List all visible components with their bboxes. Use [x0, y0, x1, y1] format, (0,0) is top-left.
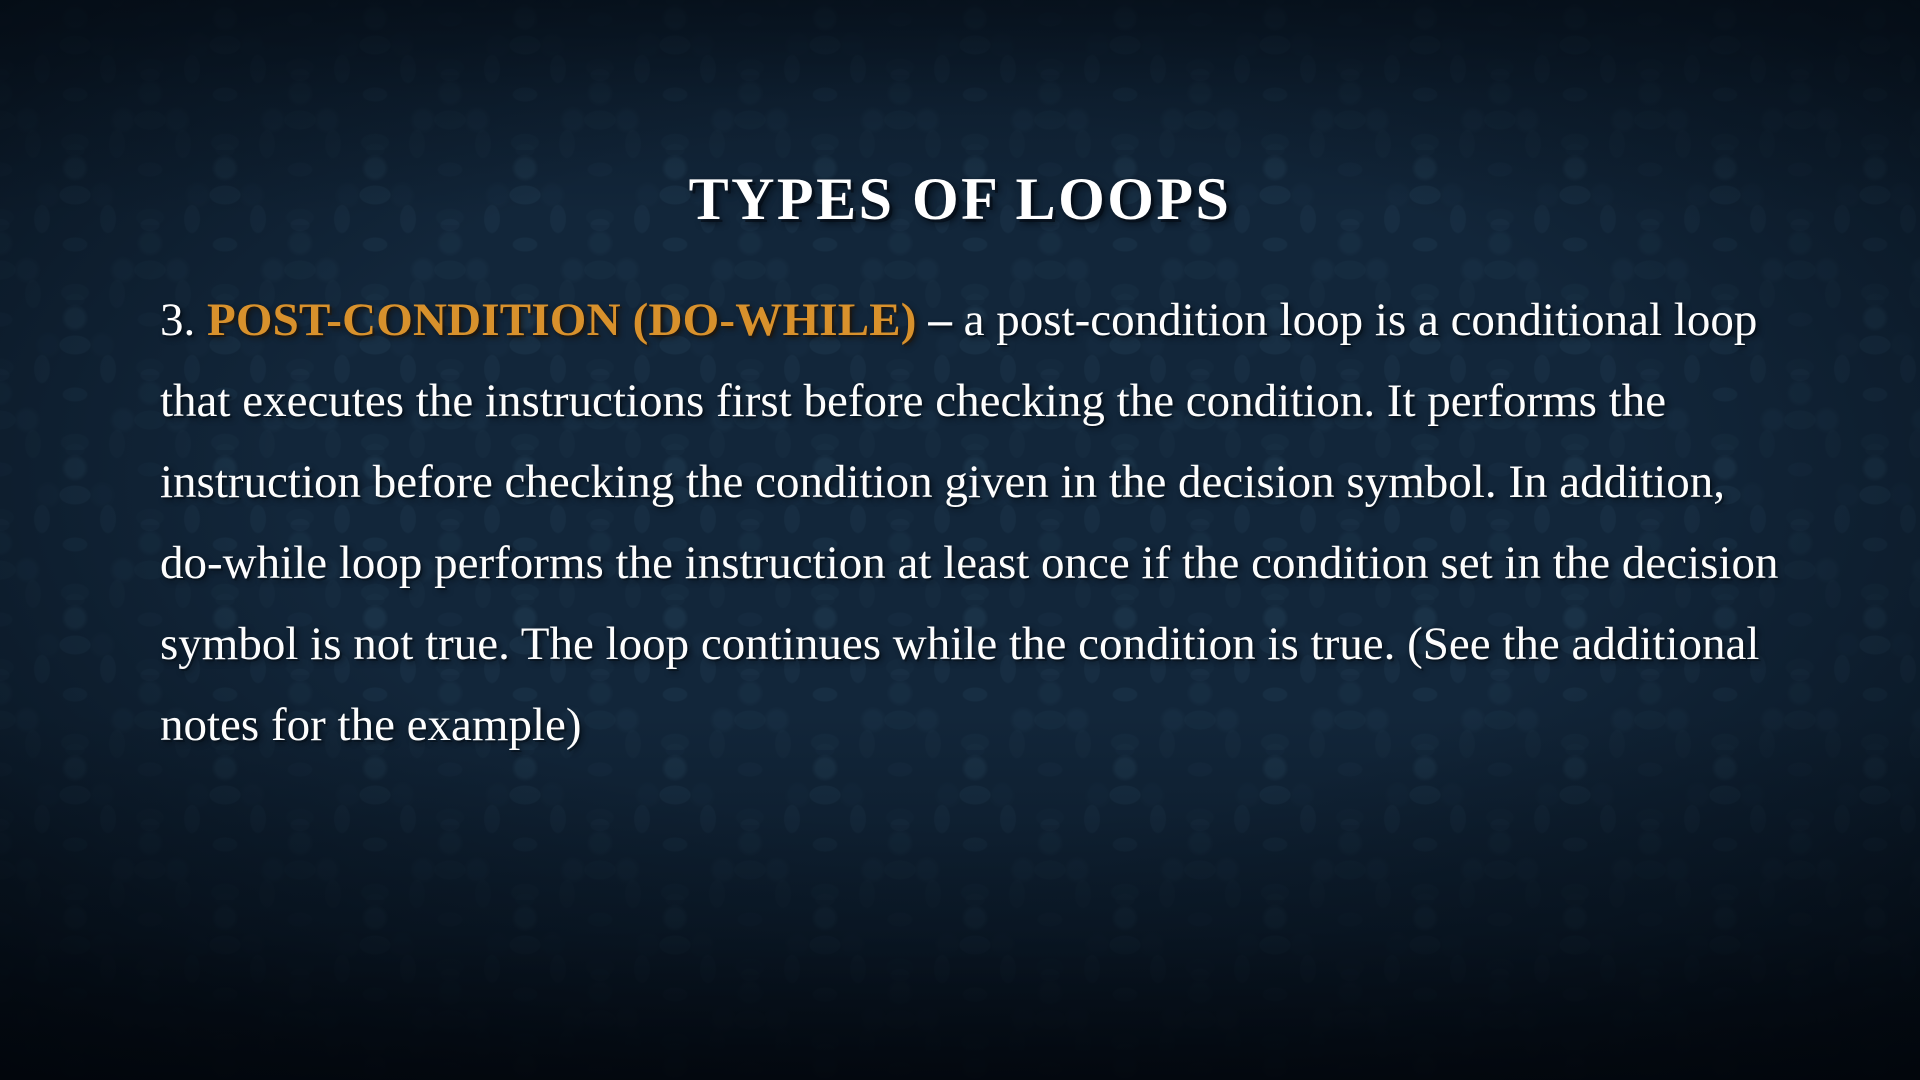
- slide-title: TYPES OF LOOPS: [0, 168, 1920, 231]
- presentation-slide: TYPES OF LOOPS 3. POST-CONDITION (DO-WHI…: [0, 0, 1920, 1080]
- slide-body-text: 3. POST-CONDITION (DO-WHILE) – a post-co…: [160, 280, 1780, 766]
- list-number: 3.: [160, 294, 195, 346]
- highlighted-term: POST-CONDITION (DO-WHILE): [207, 294, 917, 346]
- em-dash-separator: –: [928, 294, 952, 346]
- slide-content: TYPES OF LOOPS 3. POST-CONDITION (DO-WHI…: [0, 0, 1920, 1080]
- body-paragraph: a post-condition loop is a conditional l…: [160, 294, 1779, 751]
